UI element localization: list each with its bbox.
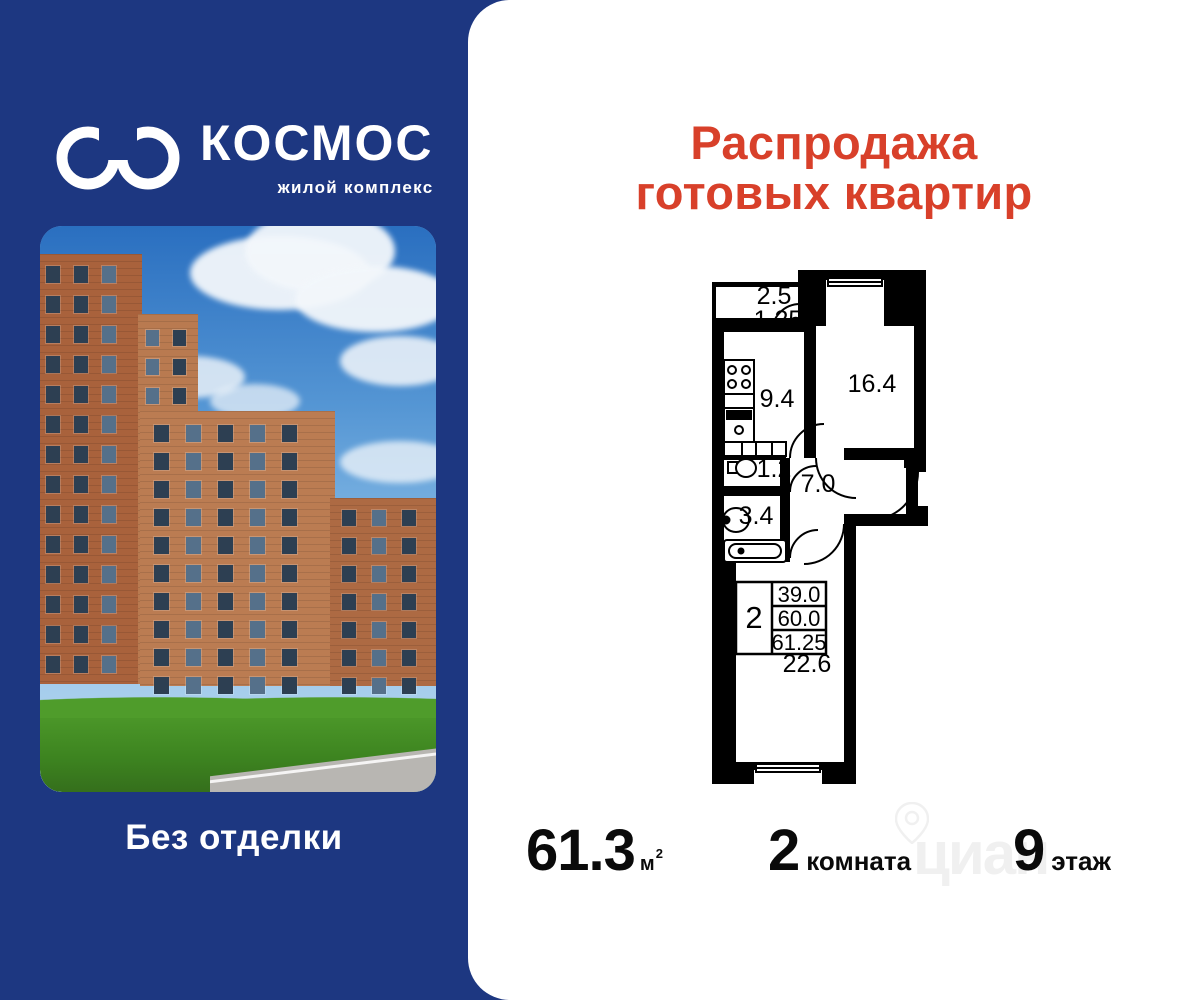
stat-floor: 9 этаж: [1013, 822, 1111, 880]
headline-line-2: готовых квартир: [468, 168, 1200, 218]
room-label-kitchen: 9.4: [760, 385, 795, 413]
stamp-total-area: 61.25: [771, 630, 826, 655]
photo-caption: Без отделки: [0, 818, 468, 858]
apartment-stats: 61.3 м2 2 комната 9 этаж: [468, 806, 1200, 892]
room-label-living-room: 16.4: [848, 370, 897, 398]
stat-area-superscript: 2: [656, 846, 663, 861]
stamp-living-area: 39.0: [778, 582, 821, 607]
room-label-balcony-area: 1.25: [754, 306, 803, 334]
left-brand-column: КОСМОС жилой комплекс: [0, 0, 468, 1000]
stat-area-unit: м2: [640, 854, 662, 874]
floorplan-drawing: 2.5 1.25 16.4 9.4 1.2 3.4 7.0 22.6 2 39.…: [694, 262, 974, 792]
stat-floor-value: 9: [1013, 822, 1044, 880]
headline-line-1: Распродажа: [468, 118, 1200, 168]
building-block: [330, 498, 436, 686]
brand-name: КОСМОС: [200, 118, 434, 168]
building-photo: [40, 226, 436, 792]
stat-floor-unit: этаж: [1051, 848, 1111, 874]
room-label-bathroom: 3.4: [739, 502, 774, 530]
room-label-toilet: 1.2: [757, 455, 792, 483]
stat-area: 61.3 м2: [526, 822, 662, 880]
room-label-hallway: 7.0: [801, 470, 836, 498]
stat-rooms: 2 комната: [768, 822, 911, 880]
stamp-rooms-count: 2: [745, 600, 762, 635]
stamp-usable-area: 60.0: [778, 606, 821, 631]
stat-area-value: 61.3: [526, 822, 635, 880]
page-title: Распродажа готовых квартир: [468, 118, 1200, 219]
brand-text: КОСМОС жилой комплекс: [200, 118, 434, 198]
brand-subtitle: жилой комплекс: [200, 178, 434, 198]
floorplan: 2.5 1.25 16.4 9.4 1.2 3.4 7.0 22.6 2 39.…: [694, 262, 974, 792]
infinity-loop-icon: [52, 126, 184, 190]
poster-root: КОСМОС жилой комплекс: [0, 0, 1200, 1000]
stat-rooms-unit: комната: [806, 848, 911, 874]
building-block: [40, 254, 142, 684]
brand-logo: КОСМОС жилой комплекс: [52, 118, 434, 198]
building-block: [140, 411, 335, 686]
stat-rooms-value: 2: [768, 822, 799, 880]
